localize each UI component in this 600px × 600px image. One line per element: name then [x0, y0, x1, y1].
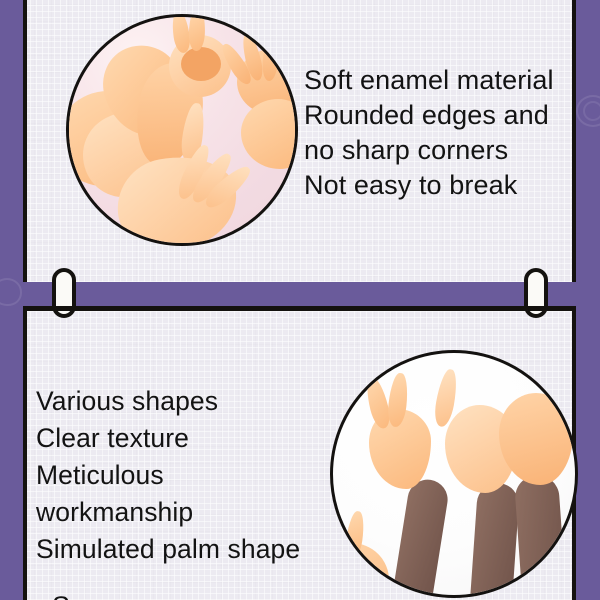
mini-hands-pile-photo: [66, 14, 298, 246]
text-line: Rounded edges and: [304, 98, 554, 133]
mini-hands-on-fingers-photo: [330, 350, 578, 598]
toy-hand-shape: [241, 99, 298, 169]
watermark-inner-circle-icon: [583, 101, 600, 121]
text-line: Clear texture: [36, 420, 300, 457]
infographic-page: Soft enamel material Rounded edges and n…: [0, 0, 600, 600]
toy-hand-cuff-hole: [181, 47, 221, 81]
watermark-circle-icon: [0, 278, 22, 306]
text-line: Meticulous: [36, 457, 300, 494]
text-line: Not easy to break: [304, 168, 554, 203]
text-line: no sharp corners: [304, 133, 554, 168]
panel-divider-bar: [23, 282, 576, 306]
finger-arm: [388, 477, 451, 598]
finger-arm: [514, 474, 568, 598]
text-line: Soft enamel material: [304, 63, 554, 98]
text-line: Simulated palm shape: [36, 531, 300, 568]
text-block-bottom: Various shapes Clear texture Meticulous …: [36, 383, 300, 568]
text-line-cutoff: S: [52, 589, 70, 600]
text-line: Various shapes: [36, 383, 300, 420]
right-purple-rail: [572, 0, 600, 600]
text-line: workmanship: [36, 494, 300, 531]
finger-arm: [468, 482, 520, 598]
text-block-top: Soft enamel material Rounded edges and n…: [304, 63, 554, 203]
